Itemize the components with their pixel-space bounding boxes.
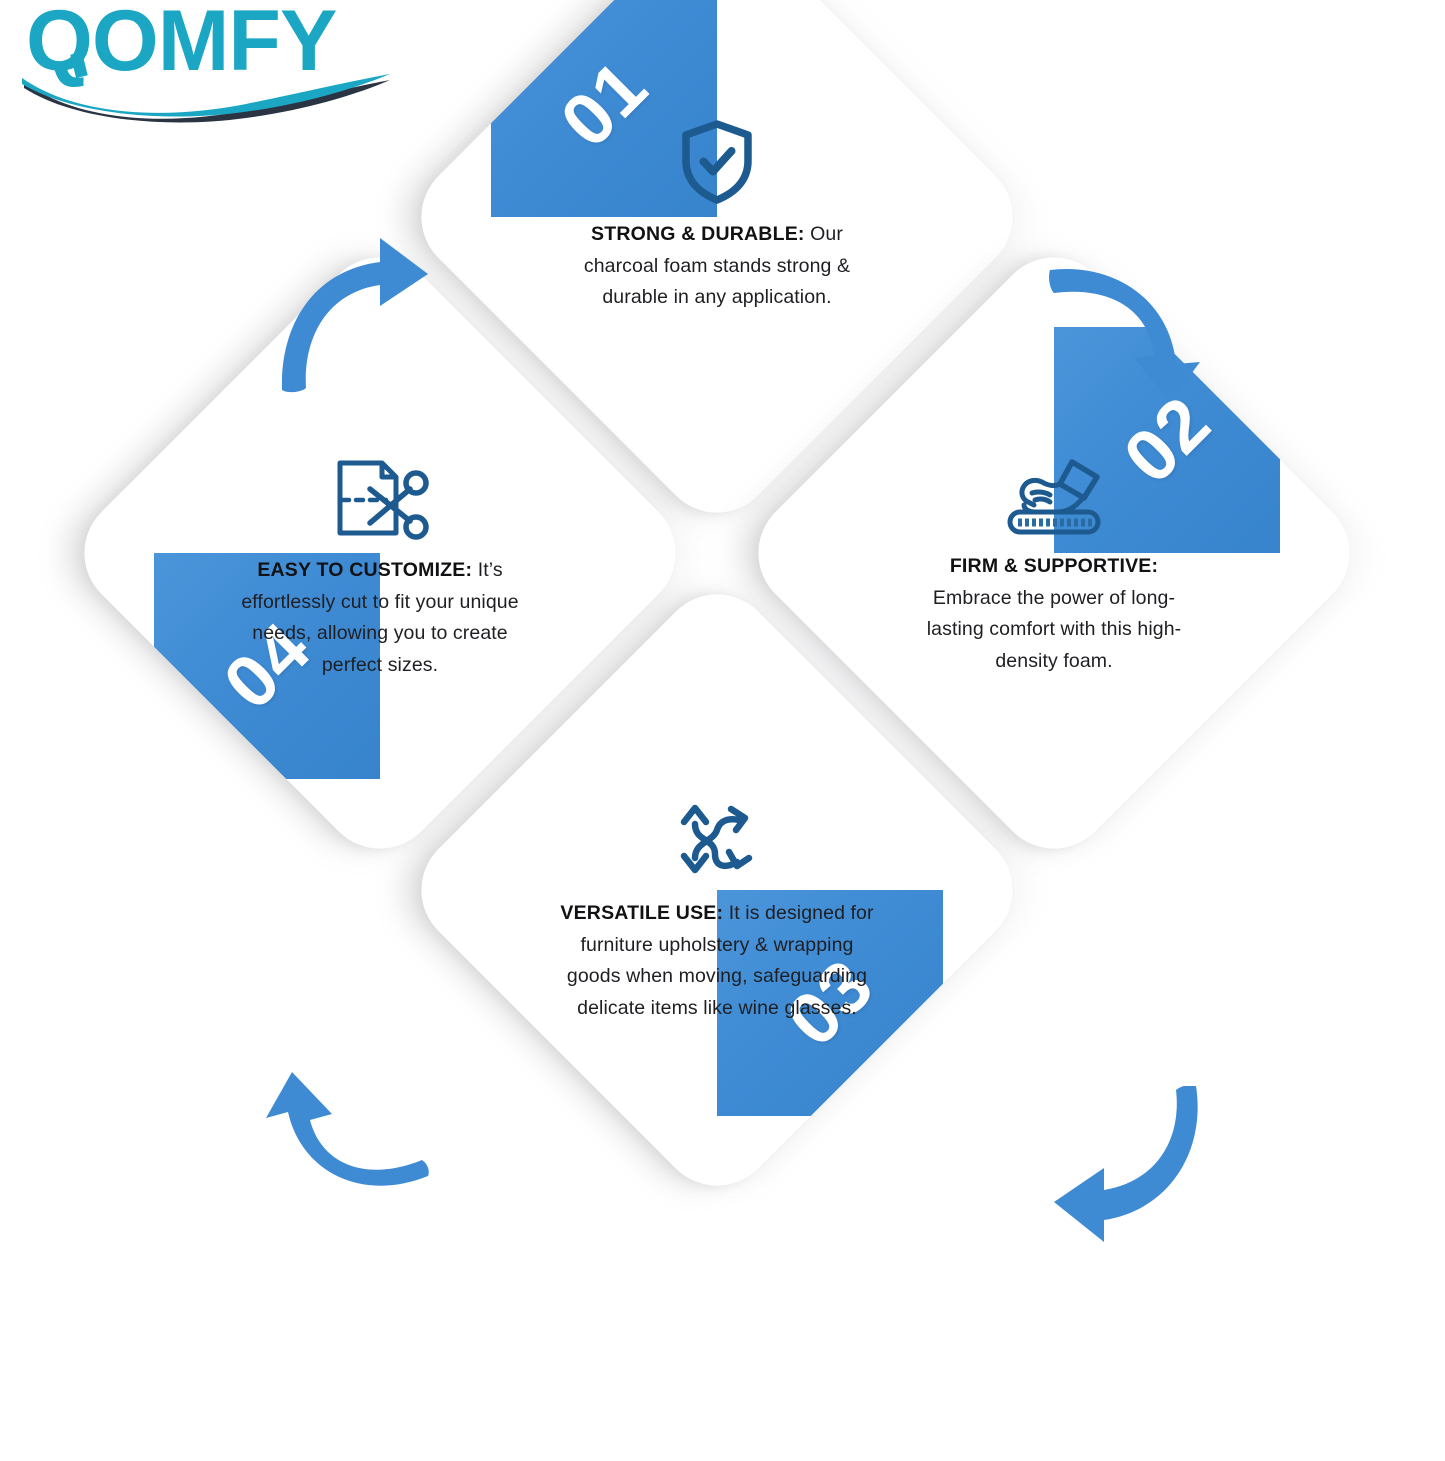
curved-arrow-bottom-right-icon [1046, 1086, 1216, 1246]
card-03-text: VERSATILE USE: It is designed for furnit… [557, 898, 877, 1024]
card-01-text: STRONG & DURABLE: Our charcoal foam stan… [557, 219, 877, 314]
card-04-content: EASY TO CUSTOMIZE: It’s effortlessly cut… [239, 455, 521, 681]
card-03-heading: VERSATILE USE: [560, 902, 723, 924]
curved-arrow-top-right-icon [1048, 240, 1218, 405]
card-04-text: EASY TO CUSTOMIZE: It’s effortlessly cut… [239, 555, 521, 681]
card-02-text: FIRM & SUPPORTIVE: Embrace the power of … [913, 551, 1195, 677]
curved-arrow-bottom-left-icon [262, 1068, 432, 1233]
card-01-heading: STRONG & DURABLE: [591, 223, 805, 245]
card-03-content: VERSATILE USE: It is designed for furnit… [557, 796, 877, 1024]
shield-check-icon [557, 119, 877, 205]
card-04-heading: EASY TO CUSTOMIZE: [257, 559, 472, 581]
scissors-cut-document-icon [239, 455, 521, 541]
versatile-arrows-icon [557, 796, 877, 884]
curved-arrow-top-left-icon [262, 230, 432, 395]
card-02-content: FIRM & SUPPORTIVE: Embrace the power of … [913, 455, 1195, 677]
card-02-body: Embrace the power of long-lasting comfor… [927, 587, 1182, 672]
card-01-content: STRONG & DURABLE: Our charcoal foam stan… [557, 119, 877, 314]
brand-logo: QOMFY [18, 0, 398, 128]
hand-pressing-foam-icon [913, 455, 1195, 537]
infographic-canvas: QOMFY 01 STRONG & [0, 0, 1445, 1461]
logo-wordmark: QOMFY [26, 0, 336, 89]
card-02-heading: FIRM & SUPPORTIVE: [950, 555, 1158, 577]
